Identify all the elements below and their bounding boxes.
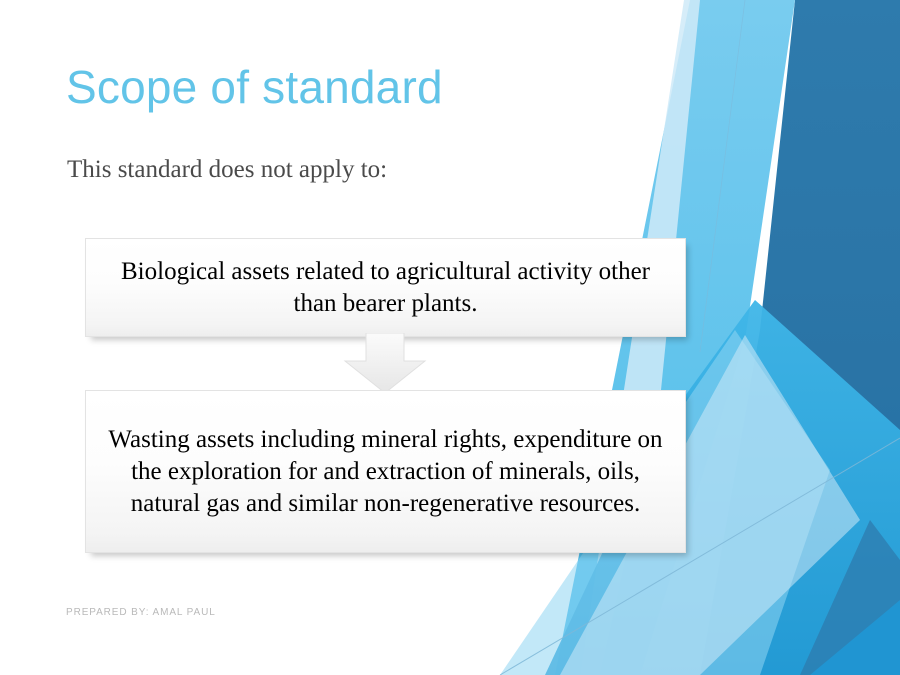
process-box-biological-assets-text: Biological assets related to agricultura… bbox=[108, 256, 663, 320]
bg-shape-dark-spike bbox=[800, 520, 900, 675]
footer-credit: PREPARED BY: AMAL PAUL bbox=[66, 607, 216, 618]
bg-shape-accent-corner bbox=[810, 600, 900, 675]
process-box-wasting-assets-text: Wasting assets including mineral rights,… bbox=[98, 424, 673, 520]
presentation-slide: Scope of standard This standard does not… bbox=[0, 0, 900, 675]
bg-shape-deep-right bbox=[700, 0, 900, 675]
bg-hairline-diagonal-upper bbox=[700, 0, 745, 352]
slide-title: Scope of standard bbox=[66, 62, 443, 113]
lead-in-text: This standard does not apply to: bbox=[67, 154, 387, 185]
process-box-biological-assets: Biological assets related to agricultura… bbox=[85, 238, 686, 337]
down-arrow-icon bbox=[340, 333, 430, 395]
process-box-wasting-assets: Wasting assets including mineral rights,… bbox=[85, 390, 686, 553]
bg-shape-light-band bbox=[555, 0, 795, 675]
bg-shape-pale-sliver bbox=[580, 0, 700, 675]
